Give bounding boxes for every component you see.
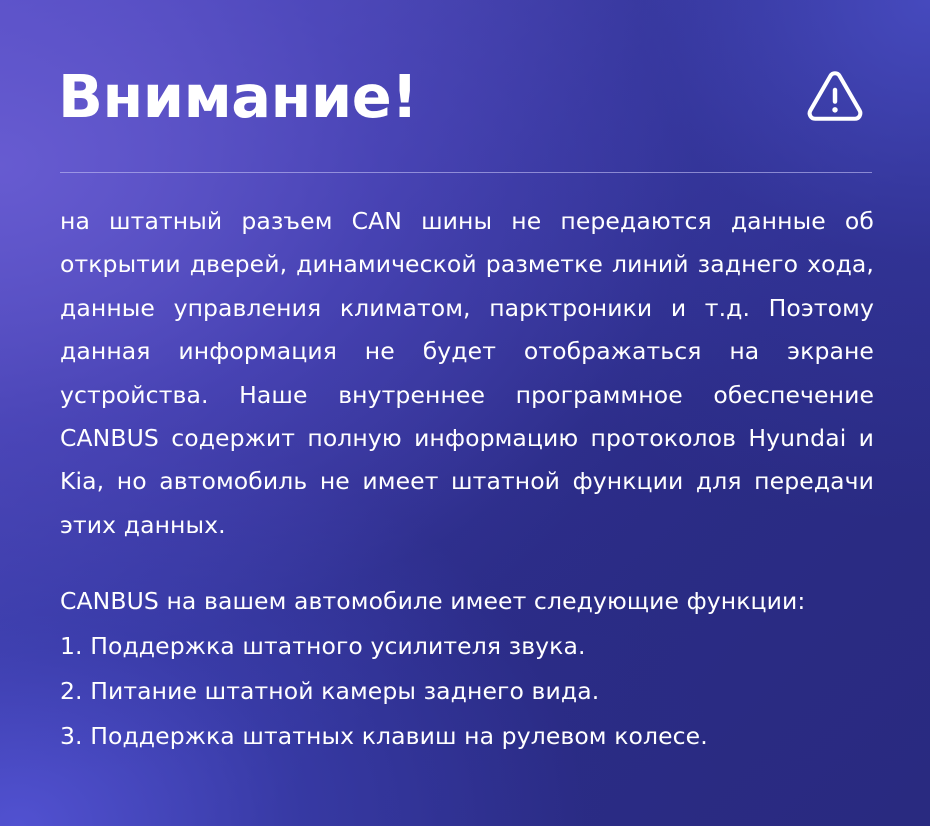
features-intro: CANBUS на вашем автомобиле имеет следующ… (60, 579, 880, 624)
body-paragraph: на штатный разъем CAN шины не передаются… (60, 200, 874, 547)
banner-content: на штатный разъем CAN шины не передаются… (60, 200, 880, 759)
header-divider (60, 172, 872, 173)
feature-item-2: 2. Питание штатной камеры заднего вида. (60, 669, 880, 714)
features-block: CANBUS на вашем автомобиле имеет следующ… (60, 579, 880, 759)
feature-item-1: 1. Поддержка штатного усилителя звука. (60, 624, 880, 669)
warning-triangle-icon (804, 65, 872, 127)
banner-header: Внимание! (58, 48, 872, 144)
warning-banner: Внимание! на штатный разъем CAN шины не … (0, 0, 930, 826)
page-title: Внимание! (58, 67, 418, 126)
feature-item-3: 3. Поддержка штатных клавиш на рулевом к… (60, 714, 880, 759)
